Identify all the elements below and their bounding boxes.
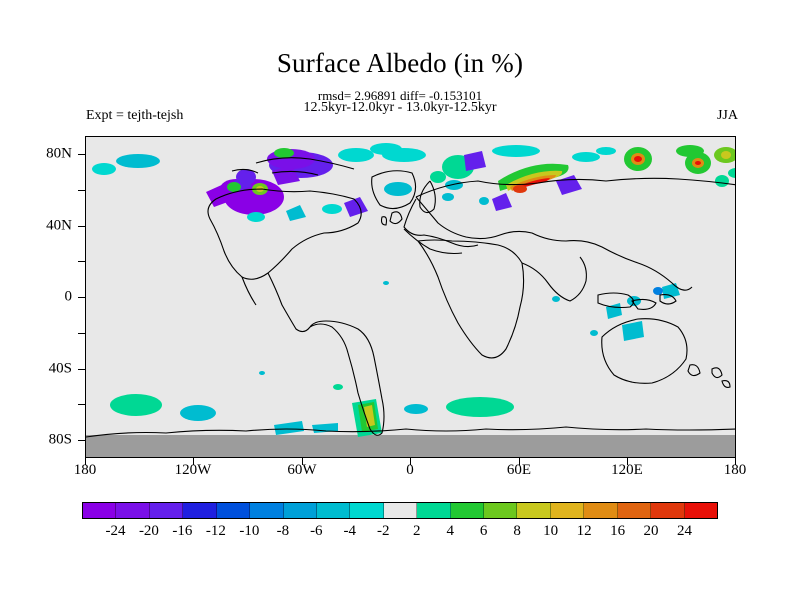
xtick-label: 120W [175,462,212,479]
ytick-label: 40S [26,361,72,378]
ytick [78,190,85,191]
colorbar-cell [417,503,450,518]
colorbar-tick-label: -20 [139,523,159,540]
ytick [78,440,85,441]
ytick [78,333,85,334]
colorbar-tick-label: -24 [105,523,125,540]
colorbar-tick-label: 24 [677,523,692,540]
colorbar-cell [116,503,149,518]
colorbar-tick-label: 2 [413,523,421,540]
experiment-label: Expt = tejth-tejsh [86,108,183,124]
ytick-label: 80S [26,432,72,449]
colorbar [82,502,718,519]
xtick-label: 60E [507,462,531,479]
colorbar-tick-label: -12 [206,523,226,540]
colorbar-cell [183,503,216,518]
ytick [78,297,85,298]
colorbar-cell [350,503,383,518]
colorbar-cell [250,503,283,518]
colorbar-tick-label: -16 [172,523,192,540]
colorbar-tick-label: 4 [446,523,454,540]
colorbar-tick-label: 16 [610,523,625,540]
colorbar-tick-label: 20 [644,523,659,540]
colorbar-cell [217,503,250,518]
colorbar-tick-label: 6 [480,523,488,540]
colorbar-tick-label: 8 [513,523,521,540]
coastline-outlines [86,137,736,458]
colorbar-tick-label: -6 [310,523,323,540]
page-title: Surface Albedo (in %) [0,48,800,79]
season-label: JJA [717,108,738,124]
xtick-label: 180 [724,462,747,479]
ytick [78,369,85,370]
colorbar-tick-label: 12 [577,523,592,540]
colorbar-cell [284,503,317,518]
figure-root: Surface Albedo (in %) rmsd= 2.96891 diff… [0,0,800,600]
colorbar-cell [317,503,350,518]
colorbar-cell [685,503,717,518]
colorbar-cell [83,503,116,518]
colorbar-cell [484,503,517,518]
ytick [78,226,85,227]
ytick [78,404,85,405]
colorbar-cell [384,503,417,518]
ytick-label: 40N [26,218,72,235]
colorbar-tick-label: -8 [277,523,290,540]
map-panel [85,136,736,458]
colorbar-cell [584,503,617,518]
ytick-label: 80N [26,146,72,163]
colorbar-cell [651,503,684,518]
colorbar-cell [551,503,584,518]
colorbar-tick-label: -4 [344,523,357,540]
colorbar-cell [150,503,183,518]
xtick-label: 60W [287,462,316,479]
colorbar-cell [451,503,484,518]
ytick [78,261,85,262]
xtick-label: 180 [74,462,97,479]
colorbar-tick-label: 10 [543,523,558,540]
colorbar-cell [517,503,550,518]
xtick-label: 120E [611,462,643,479]
colorbar-tick-label: -10 [239,523,259,540]
xtick-label: 0 [406,462,414,479]
ytick [78,154,85,155]
colorbar-cell [618,503,651,518]
ytick-label: 0 [26,289,72,306]
colorbar-tick-label: -2 [377,523,390,540]
